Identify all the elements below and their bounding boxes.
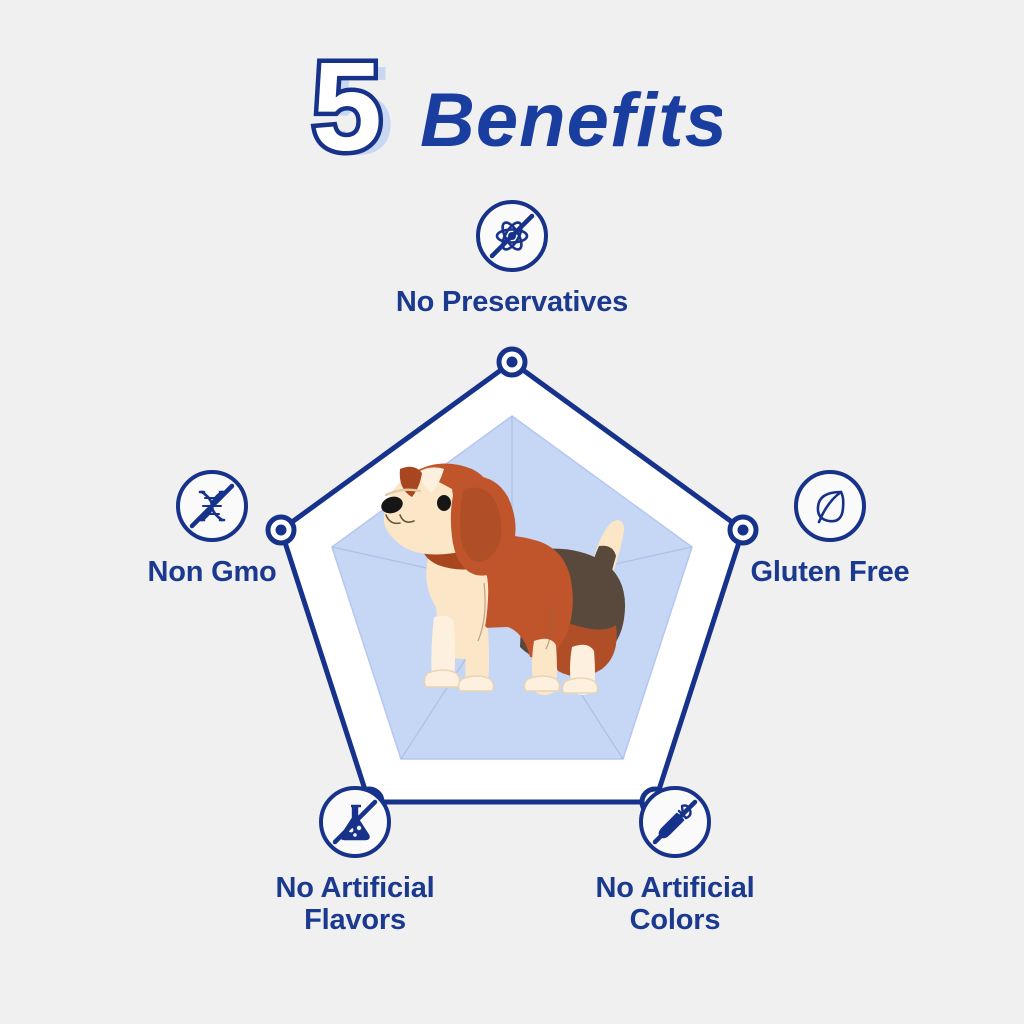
- dna-no-icon[interactable]: [176, 470, 248, 542]
- dog-svg: [372, 455, 662, 715]
- benefit-label-no-preservatives: No Preservatives: [396, 286, 628, 318]
- benefit-no-artificial-flavors[interactable]: No Artificial Flavors: [240, 786, 470, 937]
- benefit-label-gluten-free: Gluten Free: [751, 556, 910, 588]
- benefit-label-no-artificial-flavors: No Artificial Flavors: [275, 872, 434, 937]
- dropper-no-icon[interactable]: [639, 786, 711, 858]
- infographic-canvas: 5 5 Benefits: [0, 0, 1024, 1024]
- dog-paw-front-near: [458, 676, 493, 691]
- title-word: Benefits: [420, 78, 722, 163]
- benefit-label-no-artificial-colors: No Artificial Colors: [595, 872, 754, 937]
- benefit-no-preservatives[interactable]: No Preservatives: [352, 200, 672, 318]
- title-number: 5: [312, 46, 382, 172]
- benefit-no-artificial-colors[interactable]: No Artificial Colors: [560, 786, 790, 937]
- page-title: 5 5 Benefits: [0, 44, 1024, 174]
- vertex-node-top[interactable]: [499, 349, 525, 375]
- benefit-label-non-gmo: Non Gmo: [147, 556, 276, 588]
- title-artwork: 5 5 Benefits: [302, 46, 722, 172]
- dog-paw-hind-far: [524, 676, 559, 691]
- atom-no-icon[interactable]: [476, 200, 548, 272]
- dog-paw-hind-near: [562, 678, 597, 693]
- flask-no-icon[interactable]: [319, 786, 391, 858]
- benefit-non-gmo[interactable]: Non Gmo: [112, 470, 312, 588]
- dog-paw-front-far: [424, 670, 459, 687]
- beagle-dog-illustration: [372, 455, 662, 715]
- leaf-icon[interactable]: [794, 470, 866, 542]
- benefit-gluten-free[interactable]: Gluten Free: [712, 470, 948, 588]
- dog-eye: [437, 495, 451, 511]
